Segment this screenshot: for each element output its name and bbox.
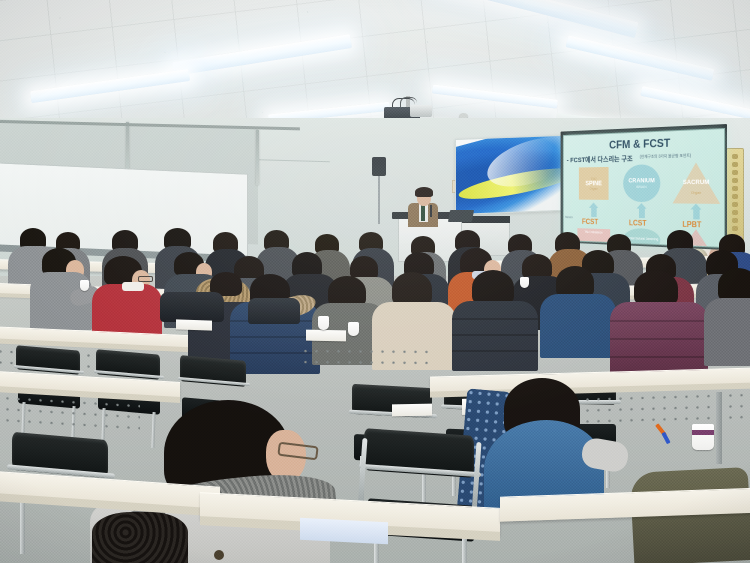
slide-sacrum-label: SACRUM	[673, 179, 721, 186]
fur-trim	[92, 512, 188, 563]
slide-side-note: Neuro	[565, 215, 572, 219]
presenter-tie	[421, 205, 425, 221]
table-leg	[716, 392, 722, 464]
attendee-torso	[452, 301, 538, 371]
slide-label-lcst: LCST	[629, 219, 647, 228]
puffer-quilt-line	[610, 320, 708, 322]
paper-cup	[348, 322, 359, 336]
slide-arrow-head	[691, 204, 702, 210]
chair-leg	[462, 536, 467, 563]
slide-subtitle-note: (인체구조의 3가지 물균형 포인트)	[640, 153, 691, 160]
mic-stand	[430, 205, 432, 217]
attendee-hair	[718, 268, 750, 302]
paper-cup	[318, 316, 329, 330]
chair-leg	[20, 496, 25, 554]
handout	[306, 330, 346, 342]
puffer-quilt-line	[610, 356, 708, 358]
laptop	[448, 210, 474, 222]
handout	[300, 518, 388, 545]
paper-cup	[692, 424, 714, 450]
slide-arrow-up	[591, 207, 596, 217]
paper-cup	[520, 277, 529, 288]
cup-band	[692, 430, 714, 435]
projection-screen: CFM & FCST - FCST에서 다스리는 구조 (인체구조의 3가지 물…	[563, 128, 725, 248]
presenter-hair	[415, 187, 433, 197]
slide-cranium-sub: BRAIN	[636, 184, 646, 189]
blind-divider-post	[256, 130, 259, 185]
lecture-hall-photo: 턱관절 ] 구소 대강당 법 임상특 CFM & FCST - FCST에서 다…	[0, 0, 750, 563]
wall-speaker	[372, 157, 386, 176]
slide-arrow-up	[639, 208, 645, 218]
bag	[160, 292, 224, 322]
table-modesty-panel	[300, 346, 430, 371]
puffer-quilt-line	[452, 318, 538, 320]
puffer-quilt-line	[610, 338, 708, 340]
attendee-hair	[392, 272, 432, 306]
slide-subtitle: - FCST에서 다스리는 구조	[567, 153, 633, 165]
slide-spine-sub: Organ	[590, 187, 598, 191]
attendee-torso	[540, 294, 616, 358]
slide-tmj-label: TMJ Imbalance	[585, 230, 603, 234]
paper-cup	[80, 280, 89, 291]
slide-sacrum-sub: Organ	[673, 190, 721, 195]
slide-label-fcst: FCST	[582, 218, 598, 227]
attendee-torso	[704, 298, 750, 366]
attendee-hair	[634, 270, 678, 306]
slide-shape-spine: TMJ SPINE Organ	[579, 167, 609, 200]
slide-arrow-up	[693, 209, 699, 220]
bag	[248, 298, 300, 324]
projector-lens-housing	[410, 105, 432, 117]
slide-arrow-head	[589, 202, 598, 208]
attendee-hair	[472, 270, 514, 305]
slide-arrow-head	[636, 203, 646, 209]
slide-shape-cranium: CRANIUM BRAIN	[623, 164, 660, 202]
handout	[176, 319, 212, 330]
speaker-pole	[378, 176, 380, 224]
attendee-collar	[122, 282, 144, 291]
handout	[392, 404, 432, 417]
slide-title: CFM & FCST	[564, 134, 724, 153]
puffer-quilt-line	[452, 350, 538, 352]
puffer-quilt-line	[452, 334, 538, 336]
parka-button	[214, 550, 224, 560]
